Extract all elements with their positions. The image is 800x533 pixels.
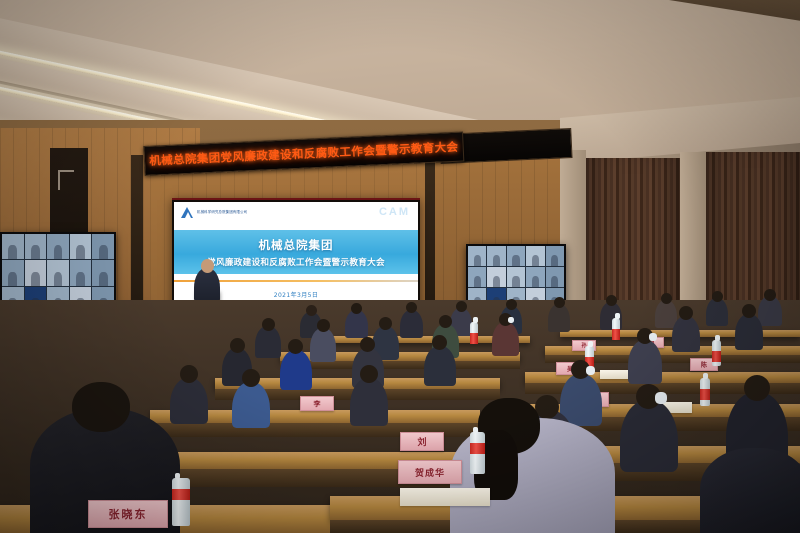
attendee-head	[242, 369, 260, 387]
meeting-hall-photo: 机械总院集团党风廉政建设和反腐败工作会暨警示教育大会 机械科学研究总院集团有限公…	[0, 0, 800, 533]
speaker-head	[201, 259, 214, 273]
attendee	[310, 328, 336, 362]
video-tile	[487, 246, 505, 266]
video-tile	[92, 260, 114, 285]
attendee-head	[764, 289, 776, 301]
attendee-head	[262, 318, 275, 331]
water-bottle-foreground	[470, 432, 485, 474]
video-tile	[526, 267, 544, 287]
name-card-front-left: 张晓东	[88, 500, 168, 528]
attendee	[345, 310, 368, 338]
attendee	[350, 378, 388, 426]
slide-subtitle: 党风廉政建设和反腐败工作会暨警示教育大会	[207, 256, 385, 268]
attendee-head	[230, 338, 245, 353]
video-tile	[70, 234, 92, 259]
attendee-head	[439, 315, 452, 328]
attendee	[424, 346, 456, 386]
attendee	[400, 310, 423, 338]
name-card: 李	[300, 396, 334, 411]
attendee-head	[72, 382, 130, 432]
attendee-head	[306, 305, 317, 316]
desk-front	[280, 361, 520, 369]
attendee	[280, 350, 312, 390]
attendee-head	[554, 297, 565, 308]
video-tile	[70, 260, 92, 285]
attendee-head	[379, 317, 392, 330]
water-bottle	[612, 318, 620, 340]
attendee-head	[679, 306, 693, 320]
water-bottle	[712, 340, 721, 366]
attendee	[620, 400, 678, 472]
attendee-head	[351, 303, 362, 314]
attendee-head	[661, 293, 672, 304]
attendee-head	[744, 375, 770, 401]
video-tile	[468, 246, 486, 266]
attendee-head	[288, 339, 303, 354]
attendee-head	[742, 304, 756, 318]
attendee-head	[406, 302, 417, 313]
logo-text: 机械科学研究总院集团有限公司	[197, 210, 247, 215]
attendee-foreground-far-right	[700, 448, 800, 533]
video-tile	[25, 234, 47, 259]
door-left	[131, 155, 143, 305]
attendee	[232, 382, 270, 428]
cam-watermark: CAM	[379, 206, 410, 218]
attendee	[735, 314, 763, 350]
water-bottle-foreground	[172, 478, 190, 526]
attendee-head	[456, 301, 467, 312]
video-tile	[507, 246, 525, 266]
attendee-head	[360, 337, 375, 352]
attendee	[628, 340, 662, 384]
face-mask	[508, 317, 514, 323]
face-mask	[649, 333, 657, 341]
name-card-front-center: 贺成华	[398, 460, 462, 484]
video-tile	[487, 267, 505, 287]
attendee	[492, 322, 519, 356]
document-foreground	[400, 488, 490, 506]
attendee-head	[432, 335, 447, 350]
attendee-head	[506, 299, 517, 310]
attendee-head	[712, 291, 723, 302]
water-bottle	[700, 378, 710, 406]
attendee	[706, 298, 728, 326]
video-tile	[526, 246, 544, 266]
attendee-head	[606, 295, 617, 306]
video-tile	[2, 234, 24, 259]
video-tile	[546, 267, 564, 287]
video-tile	[47, 260, 69, 285]
video-tile	[25, 260, 47, 285]
face-mask	[586, 366, 595, 375]
attendee-head	[360, 365, 378, 383]
ceiling-beam	[561, 0, 800, 30]
face-mask	[655, 392, 667, 404]
triangle-logo-icon	[181, 207, 194, 218]
video-tile	[47, 234, 69, 259]
video-tile	[507, 267, 525, 287]
attendee-head	[317, 319, 330, 332]
slide-header: 机械科学研究总院集团有限公司 CAM	[174, 202, 418, 224]
video-grid-right	[468, 246, 564, 308]
speaker-body	[194, 268, 220, 302]
name-card: 刘	[400, 432, 444, 451]
slide-title: 机械总院集团	[259, 237, 334, 253]
attendee	[170, 378, 208, 424]
attendee-head	[180, 365, 198, 383]
video-tile	[2, 260, 24, 285]
video-tile	[468, 267, 486, 287]
door-right	[425, 160, 435, 310]
video-tile	[92, 234, 114, 259]
company-logo: 机械科学研究总院集团有限公司	[181, 207, 247, 218]
attendee	[548, 304, 570, 332]
video-tile	[546, 246, 564, 266]
attendee	[672, 316, 700, 352]
water-bottle	[470, 322, 478, 344]
